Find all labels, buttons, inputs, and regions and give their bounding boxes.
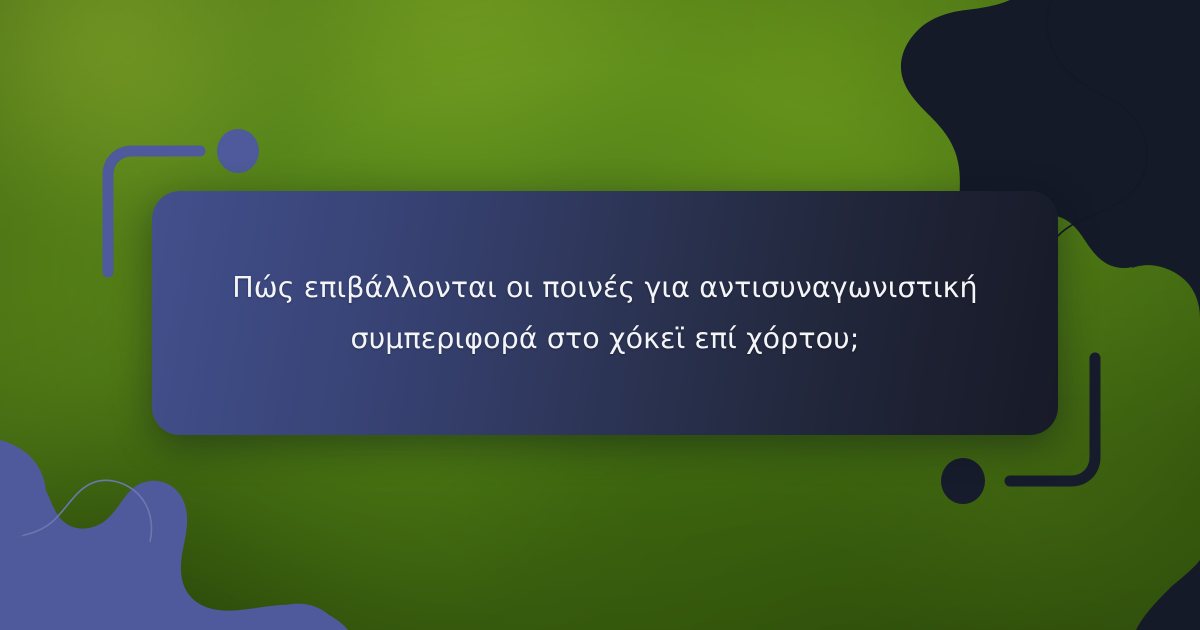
question-text: Πώς επιβάλλονται οι ποινές για αντισυναγ…	[214, 262, 996, 364]
top-left-dot	[217, 129, 259, 173]
question-card-canvas: Πώς επιβάλλονται οι ποινές για αντισυναγ…	[0, 0, 1200, 630]
question-card: Πώς επιβάλλονται οι ποινές για αντισυναγ…	[152, 191, 1058, 435]
bottom-right-dot	[941, 458, 985, 504]
